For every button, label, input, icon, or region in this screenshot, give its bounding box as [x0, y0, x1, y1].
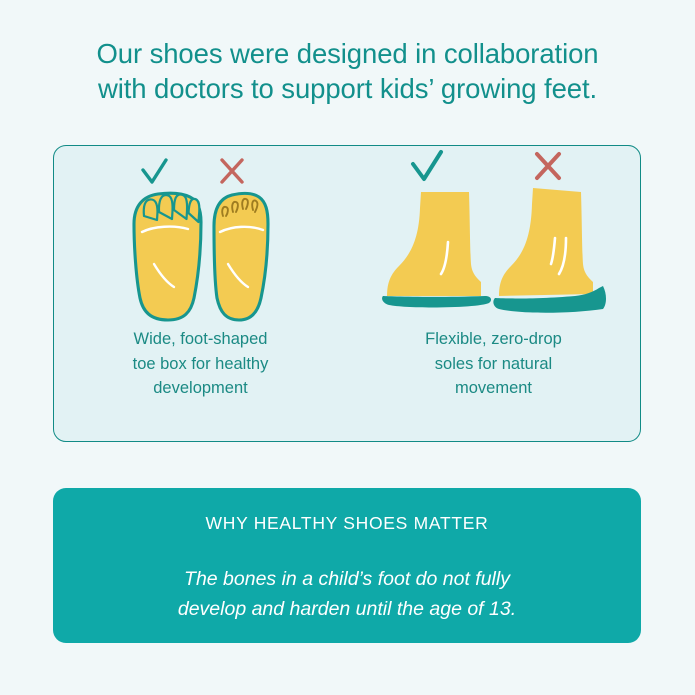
raised-heel-boot: [493, 188, 606, 313]
feature-caption-toe-box: Wide, foot-shaped toe box for healthy de…: [86, 327, 316, 401]
why-healthy-shoes-panel: WHY HEALTHY SHOES MATTER The bones in a …: [53, 488, 641, 643]
caption-line-2: toe box for healthy: [86, 352, 316, 377]
caption-line-1: Flexible, zero-drop: [379, 327, 609, 352]
feature-column-toe-box: Wide, foot-shaped toe box for healthy de…: [54, 146, 347, 441]
wide-foot-shape: [134, 193, 201, 320]
page-title-line-2: with doctors to support kids’ growing fe…: [0, 71, 695, 106]
flat-sole-boot: [382, 192, 491, 307]
feet-illustration-svg: [116, 146, 286, 321]
feet-illustration: [54, 146, 347, 321]
caption-line-3: development: [86, 376, 316, 401]
features-card: Wide, foot-shaped toe box for healthy de…: [53, 145, 641, 442]
features-columns: Wide, foot-shaped toe box for healthy de…: [54, 146, 640, 441]
boots-illustration: [347, 146, 640, 321]
footer-heading: WHY HEALTHY SHOES MATTER: [53, 513, 641, 534]
narrow-foot-shape: [214, 193, 268, 320]
infographic-page: Our shoes were designed in collaboration…: [0, 0, 695, 695]
footer-body-line-1: The bones in a child’s foot do not fully: [53, 564, 641, 594]
flat-sole: [382, 296, 491, 307]
cross-mark-icon: [537, 154, 559, 178]
feature-column-soles: Flexible, zero-drop soles for natural mo…: [347, 146, 640, 441]
cross-mark-icon: [222, 160, 242, 182]
footer-body: The bones in a child’s foot do not fully…: [53, 564, 641, 624]
check-mark-icon: [413, 152, 441, 179]
boots-illustration-svg: [369, 146, 619, 321]
check-mark-icon: [143, 160, 166, 182]
caption-line-1: Wide, foot-shaped: [86, 327, 316, 352]
feature-caption-soles: Flexible, zero-drop soles for natural mo…: [379, 327, 609, 401]
page-title-line-1: Our shoes were designed in collaboration: [0, 36, 695, 71]
caption-line-3: movement: [379, 376, 609, 401]
caption-line-2: soles for natural: [379, 352, 609, 377]
page-title: Our shoes were designed in collaboration…: [0, 36, 695, 106]
footer-body-line-2: develop and harden until the age of 13.: [53, 594, 641, 624]
